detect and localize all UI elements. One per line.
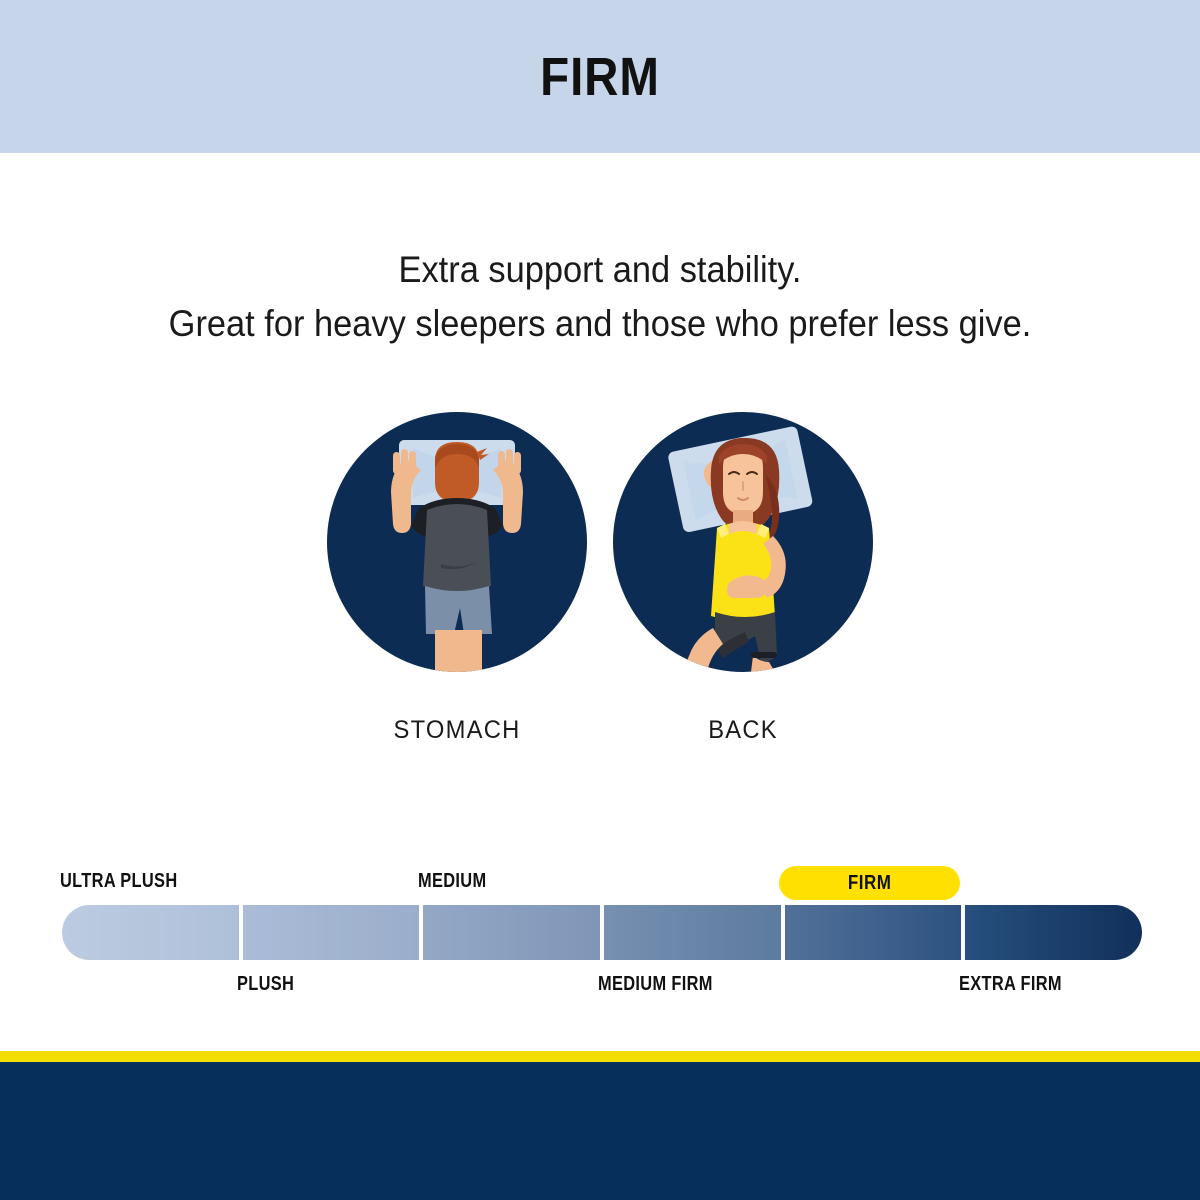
firmness-segment-medium-firm[interactable] bbox=[604, 905, 781, 960]
sleep-position-illustrations: STOMACH bbox=[0, 412, 1200, 752]
back-sleeper-illustration bbox=[613, 412, 873, 672]
sleep-position-back: BACK bbox=[613, 412, 873, 745]
firmness-selected-label: FIRM bbox=[848, 872, 892, 895]
firmness-segment-medium[interactable] bbox=[423, 905, 600, 960]
firmness-segment-plush[interactable] bbox=[243, 905, 420, 960]
footer-accent-rule bbox=[0, 1051, 1200, 1062]
sleep-position-stomach: STOMACH bbox=[327, 412, 587, 745]
firmness-label-medium-firm: MEDIUM FIRM bbox=[598, 973, 713, 996]
firmness-scale: ULTRA PLUSH PLUSH MEDIUM MEDIUM FIRM EXT… bbox=[0, 860, 1200, 1010]
subtitle-line-1: Extra support and stability. bbox=[42, 243, 1158, 297]
firmness-label-ultra-plush: ULTRA PLUSH bbox=[60, 870, 177, 893]
firmness-label-medium: MEDIUM bbox=[418, 870, 486, 893]
firmness-label-plush: PLUSH bbox=[237, 973, 294, 996]
subtitle: Extra support and stability. Great for h… bbox=[42, 243, 1158, 351]
subtitle-line-2: Great for heavy sleepers and those who p… bbox=[42, 297, 1158, 351]
stomach-sleeper-illustration bbox=[327, 412, 587, 672]
infographic-page: FIRM Extra support and stability. Great … bbox=[0, 0, 1200, 1200]
page-title: FIRM bbox=[540, 46, 660, 108]
sleep-position-label-stomach: STOMACH bbox=[334, 716, 581, 745]
firmness-segment-ultra-plush[interactable] bbox=[62, 905, 239, 960]
firmness-scale-bar bbox=[62, 905, 1142, 960]
firmness-segment-extra-firm[interactable] bbox=[965, 905, 1142, 960]
firmness-segment-firm[interactable] bbox=[785, 905, 962, 960]
header-band: FIRM bbox=[0, 0, 1200, 153]
sleep-position-label-back: BACK bbox=[620, 716, 867, 745]
firmness-label-extra-firm: EXTRA FIRM bbox=[959, 973, 1062, 996]
firmness-selected-badge[interactable]: FIRM bbox=[779, 866, 960, 900]
footer-band: Serta ® bbox=[0, 1062, 1200, 1200]
